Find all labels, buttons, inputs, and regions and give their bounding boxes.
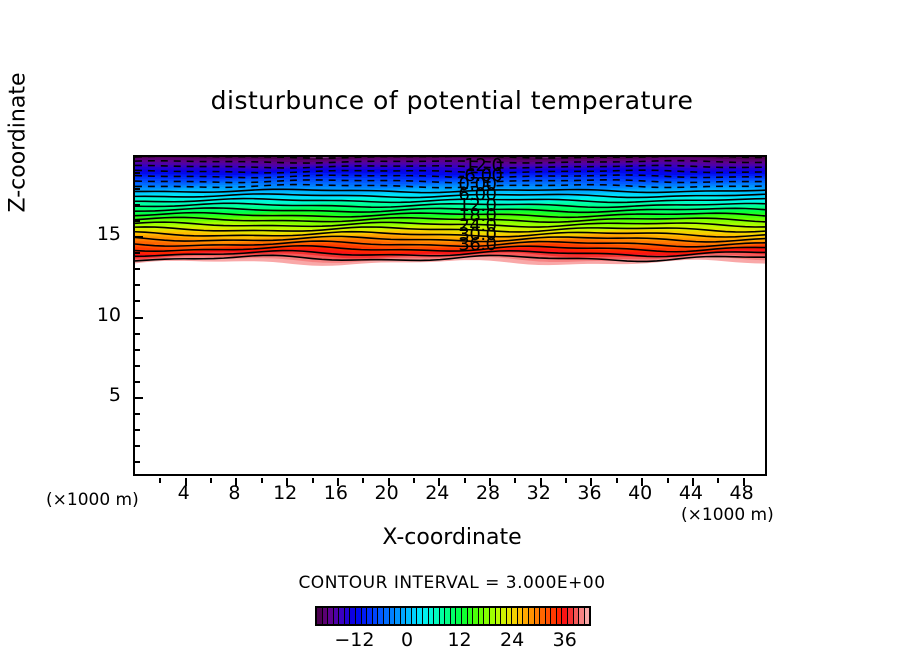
y-axis-minor-tick (135, 365, 140, 367)
y-axis-tick (135, 397, 143, 399)
y-axis-minor-tick (135, 268, 140, 270)
y-axis-tick-label: 5 (61, 384, 121, 406)
y-axis-tick (135, 236, 143, 238)
y-axis-minor-tick (135, 188, 140, 190)
x-unit-label-right: (×1000 m) (681, 505, 774, 525)
y-axis-minor-tick (135, 381, 140, 383)
y-axis-minor-tick (135, 349, 140, 351)
colorbar-tick-label: 24 (482, 629, 542, 651)
page-title: disturbunce of potential temperature (0, 86, 904, 115)
colorbar-tick-label: 12 (430, 629, 490, 651)
y-axis-minor-tick (135, 220, 140, 222)
y-axis-minor-tick (135, 445, 140, 447)
y-axis-tick-label: 10 (61, 304, 121, 326)
y-axis-minor-tick (135, 252, 140, 254)
x-unit-label-left: (×1000 m) (46, 490, 139, 510)
colorbar-tick-label: 36 (535, 629, 595, 651)
plot-axes-frame (133, 155, 767, 476)
x-axis-tick-label: 48 (712, 482, 772, 504)
y-axis-minor-tick (135, 413, 140, 415)
contour-interval-label: CONTOUR INTERVAL = 3.000E+00 (0, 573, 904, 593)
contour-plot-canvas (135, 157, 765, 474)
y-axis-minor-tick (135, 333, 140, 335)
y-axis-minor-tick (135, 172, 140, 174)
contour-value-label: 36.0 (458, 234, 496, 255)
y-axis-minor-tick (135, 461, 140, 463)
colorbar-tick-label: 0 (377, 629, 437, 651)
colorbar-tick-label: −12 (324, 629, 384, 651)
x-axis-title: X-coordinate (0, 525, 904, 550)
y-axis-title: Z-coordinate (6, 23, 31, 263)
y-axis-minor-tick (135, 204, 140, 206)
colorbar (315, 606, 591, 626)
y-axis-tick (135, 317, 143, 319)
y-axis-minor-tick (135, 300, 140, 302)
colorbar-bands (317, 608, 589, 624)
y-axis-minor-tick (135, 429, 140, 431)
y-axis-tick-label: 15 (61, 223, 121, 245)
colorbar-band (585, 608, 590, 624)
y-axis-minor-tick (135, 284, 140, 286)
